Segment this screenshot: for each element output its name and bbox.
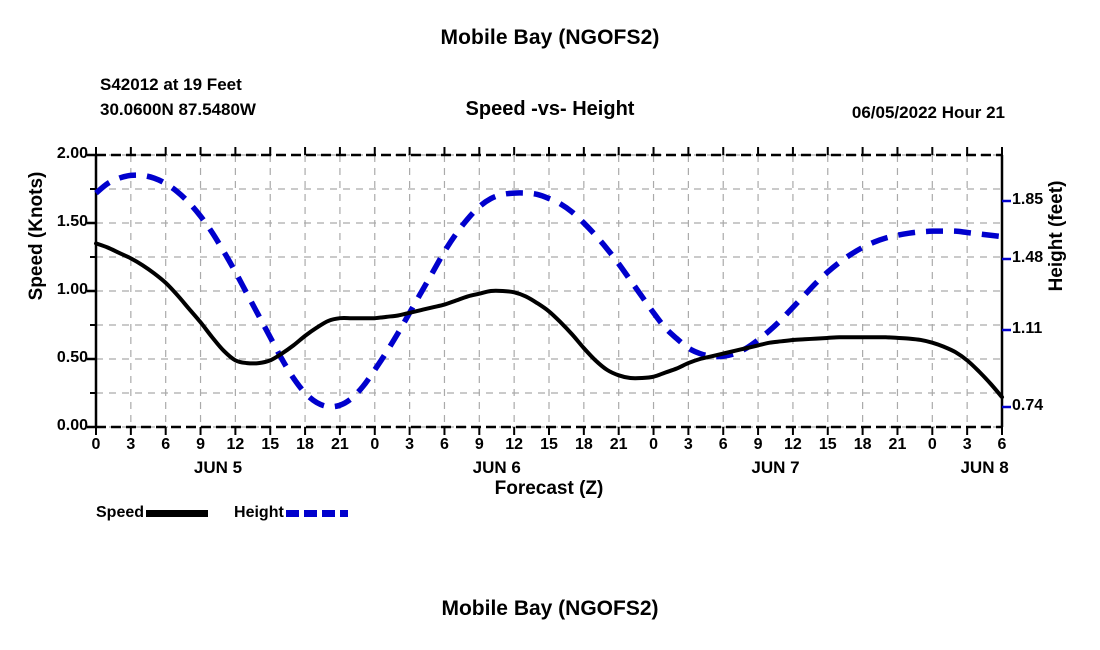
y-axis-left-tick-label: 0.00 xyxy=(28,417,88,435)
y-axis-left-tick-label: 0.50 xyxy=(28,349,88,367)
x-axis-day-label: JUN 6 xyxy=(437,458,557,478)
legend-swatch-height-icon xyxy=(286,510,348,517)
x-axis-day-label: JUN 7 xyxy=(716,458,836,478)
legend-label-speed: Speed xyxy=(96,504,144,522)
y-axis-left-label: Speed (Knots) xyxy=(26,146,48,326)
y-axis-left-tick-label: 1.00 xyxy=(28,281,88,299)
x-axis-tick-label: 6 xyxy=(982,436,1022,454)
y-axis-right-tick-label: 0.74 xyxy=(1012,397,1072,415)
legend-swatch-speed-icon xyxy=(146,510,208,517)
y-axis-right-tick-label: 1.85 xyxy=(1012,191,1072,209)
y-axis-right-tick-label: 1.11 xyxy=(1012,320,1072,338)
chart-plot-area xyxy=(0,0,1100,650)
y-axis-right-label: Height (feet) xyxy=(1046,146,1068,326)
y-axis-left-tick-label: 2.00 xyxy=(28,145,88,163)
chart-legend: Speed Height xyxy=(96,504,348,522)
x-axis-day-label: JUN 5 xyxy=(158,458,278,478)
x-axis-label: Forecast (Z) xyxy=(96,478,1002,500)
x-axis-day-label: JUN 8 xyxy=(925,458,1045,478)
legend-label-height: Height xyxy=(234,504,284,522)
page-title-bottom: Mobile Bay (NGOFS2) xyxy=(0,597,1100,621)
y-axis-left-tick-label: 1.50 xyxy=(28,213,88,231)
y-axis-right-tick-label: 1.48 xyxy=(1012,249,1072,267)
